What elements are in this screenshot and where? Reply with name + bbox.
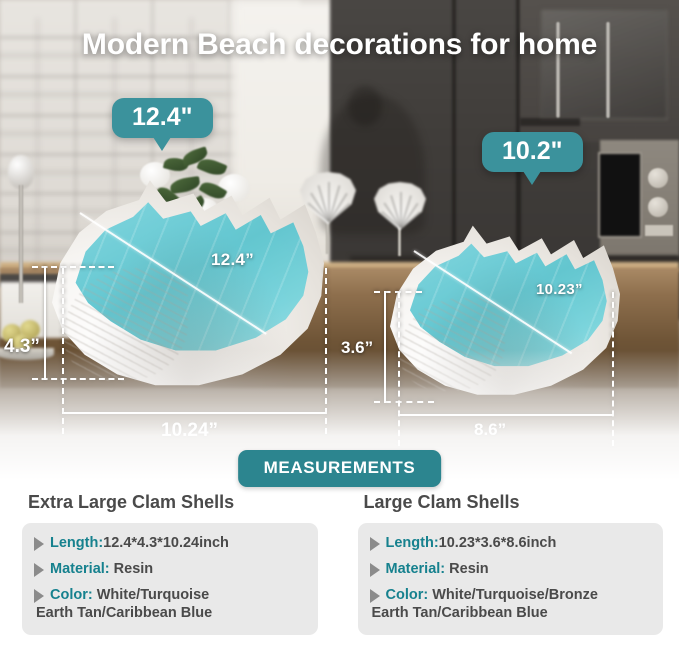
right-shell-callout-value: 10.2" (482, 132, 583, 172)
spec-key: Color: (50, 587, 93, 603)
product-title-extra-large: Extra Large Clam Shells (28, 492, 318, 513)
spec-value: Resin (445, 561, 489, 577)
spec-value: 12.4*4.3*10.24inch (103, 535, 229, 551)
triangle-bullet-icon (370, 537, 380, 551)
triangle-bullet-icon (370, 589, 380, 603)
person-silhouette-head (348, 86, 382, 126)
spec-value: 10.23*3.6*8.6inch (439, 535, 557, 551)
cabinet-trim (520, 118, 580, 126)
decorative-rod (19, 185, 23, 303)
spec-panel-extra-large: Length:12.4*4.3*10.24inch Material: Resi… (22, 523, 318, 635)
spec-value-line2: Earth Tan/Caribbean Blue (372, 604, 598, 622)
spec-value: White/Turquoise (93, 587, 210, 603)
spec-row: Length:12.4*4.3*10.24inch (30, 534, 308, 552)
spec-column-extra-large: Extra Large Clam Shells Length:12.4*4.3*… (0, 492, 340, 654)
spec-row: Material: Resin (366, 560, 654, 578)
right-shell-callout: 10.2" (482, 132, 583, 172)
triangle-bullet-icon (34, 537, 44, 551)
infographic-root: 12.4” 10.23” 4.3” 10.24” 3.6” (0, 0, 679, 654)
spec-key: Length: (50, 535, 103, 551)
spec-panel-large: Length:10.23*3.6*8.6inch Material: Resin… (358, 523, 664, 635)
spec-row: Material: Resin (30, 560, 308, 578)
triangle-bullet-icon (370, 563, 380, 577)
decorative-orb (8, 155, 34, 189)
spec-row: Color: White/Turquoise Earth Tan/Caribbe… (30, 586, 308, 622)
microwave-knob (648, 168, 668, 188)
spec-column-large: Large Clam Shells Length:10.23*3.6*8.6in… (340, 492, 679, 654)
page-title: Modern Beach decorations for home (0, 28, 679, 62)
product-photo: 12.4” 10.23” 4.3” 10.24” 3.6” (0, 0, 679, 480)
right-shell-diagonal-label: 10.23” (536, 281, 583, 298)
spec-text: Length:12.4*4.3*10.24inch (50, 534, 229, 552)
product-title-large: Large Clam Shells (364, 492, 664, 513)
spec-text: Color: White/Turquoise/Bronze Earth Tan/… (386, 586, 598, 622)
left-shell-callout-value: 12.4" (112, 98, 213, 138)
left-shell-callout: 12.4" (112, 98, 213, 138)
spec-key: Color: (386, 587, 429, 603)
callout-tail-icon (153, 137, 171, 151)
spec-key: Length: (386, 535, 439, 551)
callout-tail-icon (523, 171, 541, 185)
microwave-button (645, 225, 673, 236)
measurements-banner: MEASUREMENTS (238, 450, 442, 487)
microwave-knob (648, 197, 668, 217)
spec-text: Length:10.23*3.6*8.6inch (386, 534, 557, 552)
spec-value: Resin (110, 561, 154, 577)
spec-key: Material: (386, 561, 446, 577)
spec-text: Material: Resin (386, 560, 489, 578)
triangle-bullet-icon (34, 589, 44, 603)
product-specs: Extra Large Clam Shells Length:12.4*4.3*… (0, 492, 679, 654)
spec-row: Length:10.23*3.6*8.6inch (366, 534, 654, 552)
spec-value-line2: Earth Tan/Caribbean Blue (36, 604, 212, 622)
spec-text: Color: White/Turquoise Earth Tan/Caribbe… (50, 586, 212, 622)
triangle-bullet-icon (34, 563, 44, 577)
spec-value: White/Turquoise/Bronze (428, 587, 598, 603)
spec-row: Color: White/Turquoise/Bronze Earth Tan/… (366, 586, 654, 622)
left-shell-diagonal-label: 12.4” (211, 250, 254, 270)
decorative-stand (8, 155, 34, 305)
spec-text: Material: Resin (50, 560, 153, 578)
spec-key: Material: (50, 561, 110, 577)
